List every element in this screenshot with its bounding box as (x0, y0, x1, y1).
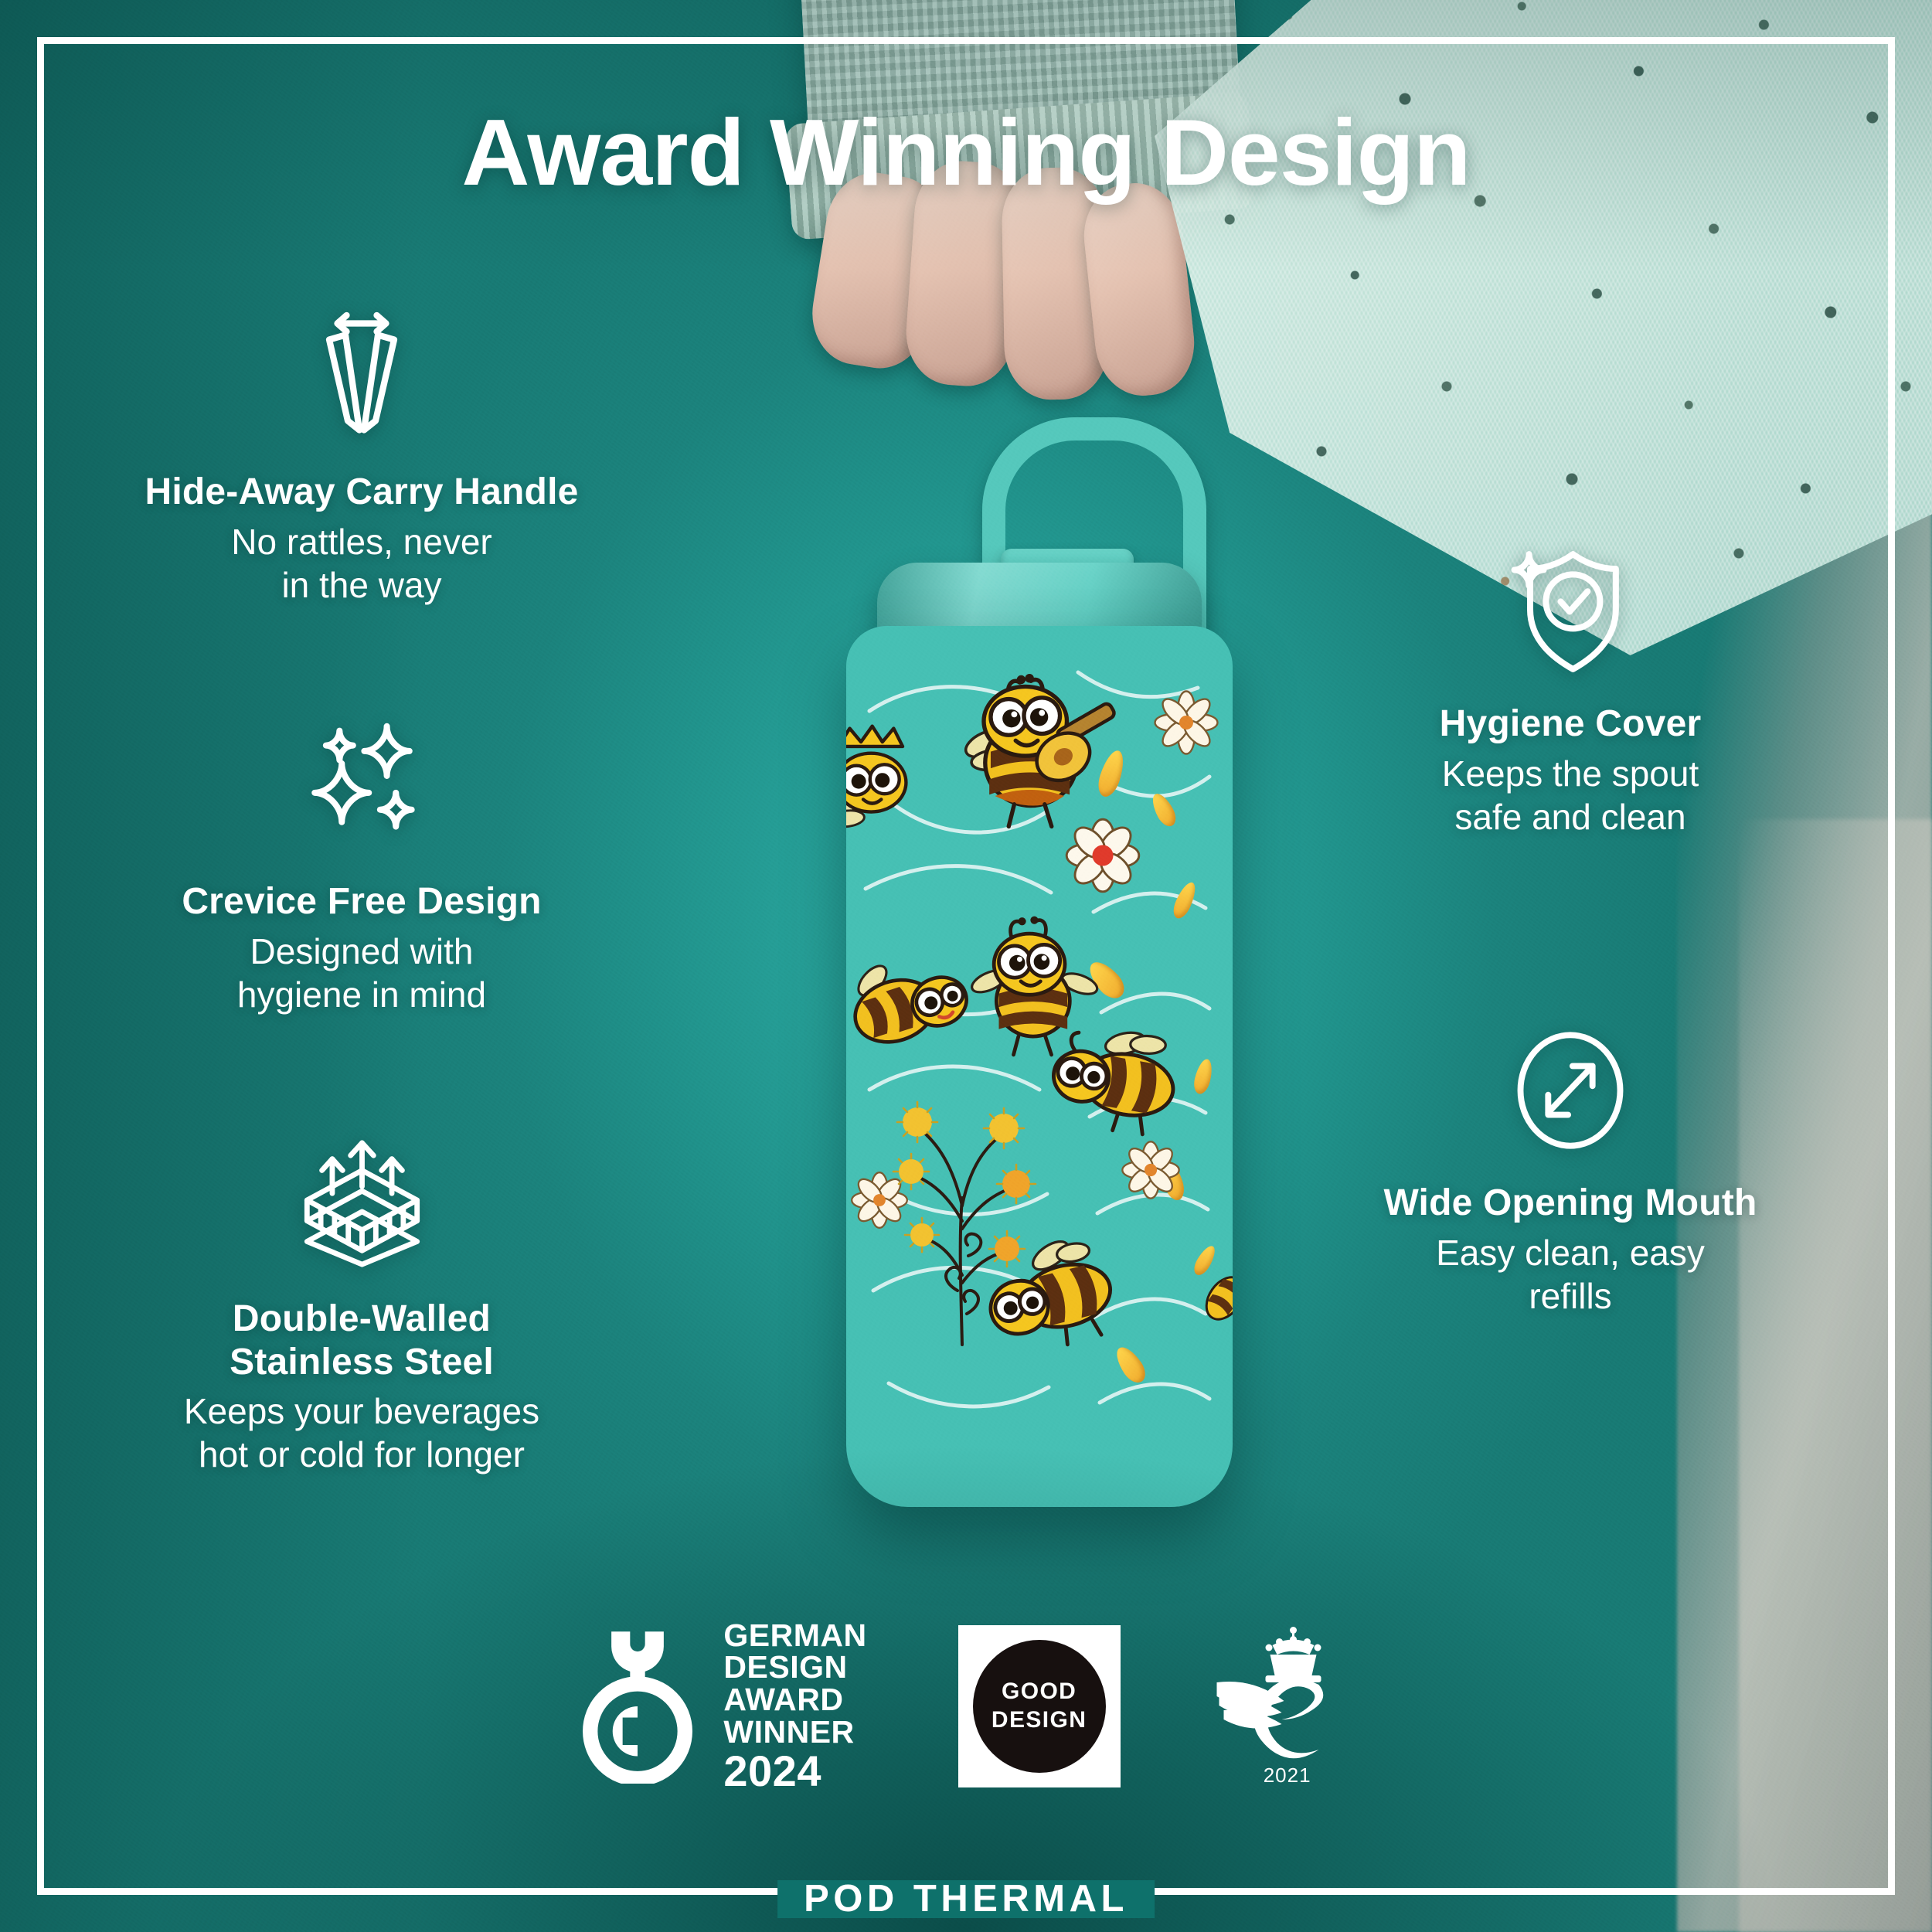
feature-description: Keeps the spoutsafe and clean (1323, 752, 1818, 838)
gda-line-1: GERMAN (723, 1620, 866, 1652)
shield-check-sparkle-icon (1323, 541, 1818, 676)
feature-hygiene-cover: Hygiene Cover Keeps the spoutsafe and cl… (1323, 541, 1818, 838)
feature-title: Hygiene Cover (1323, 702, 1818, 746)
feature-wide-opening-mouth: Wide Opening Mouth Easy clean, easyrefil… (1323, 1020, 1818, 1318)
award-badges: GERMAN DESIGN AWARD WINNER 2024 GOOD DES… (0, 1620, 1932, 1793)
gda-line-2: DESIGN (723, 1651, 866, 1684)
brand-name: POD THERMAL (804, 1880, 1128, 1918)
feature-description: Designed withhygiene in mind (114, 930, 609, 1016)
feature-description: Keeps your beverageshot or cold for long… (114, 1389, 609, 1476)
german-design-award-text: GERMAN DESIGN AWARD WINNER 2024 (723, 1620, 866, 1793)
feature-title: Hide-Away Carry Handle (114, 471, 609, 514)
feature-hide-away-carry-handle: Hide-Away Carry Handle No rattles, never… (114, 309, 609, 607)
gda-line-3: AWARD (723, 1684, 866, 1716)
feature-crevice-free-design: Crevice Free Design Designed withhygiene… (114, 719, 609, 1016)
good-design-line-2: DESIGN (992, 1706, 1087, 1735)
sparkles-icon (114, 719, 609, 854)
feature-title: Wide Opening Mouth (1323, 1182, 1818, 1225)
gda-year: 2024 (723, 1749, 866, 1793)
queens-award-badge: 2021 (1212, 1624, 1363, 1787)
queens-award-winged-e-mark (1212, 1624, 1363, 1768)
page-title: Award Winning Design (0, 105, 1932, 199)
feature-description: Easy clean, easyrefills (1323, 1231, 1818, 1318)
feature-description: No rattles, neverin the way (114, 520, 609, 607)
german-design-award-mark (569, 1629, 706, 1784)
good-design-mark: GOOD DESIGN (973, 1640, 1106, 1773)
feature-double-walled-stainless-steel: Double-WalledStainless Steel Keeps your … (114, 1136, 609, 1477)
german-design-award-badge: GERMAN DESIGN AWARD WINNER 2024 (569, 1620, 866, 1793)
brand-plate: POD THERMAL (777, 1880, 1155, 1918)
queens-award-year: 2021 (1264, 1764, 1311, 1787)
layers-insulation-icon (114, 1136, 609, 1271)
good-design-line-1: GOOD (1002, 1678, 1077, 1706)
feature-title: Crevice Free Design (114, 880, 609, 923)
gda-line-4: WINNER (723, 1716, 866, 1749)
good-design-badge: GOOD DESIGN (958, 1625, 1121, 1787)
feature-title: Double-WalledStainless Steel (114, 1298, 609, 1383)
carry-handle-icon (114, 309, 609, 444)
expand-arrows-circle-icon (1323, 1020, 1818, 1155)
